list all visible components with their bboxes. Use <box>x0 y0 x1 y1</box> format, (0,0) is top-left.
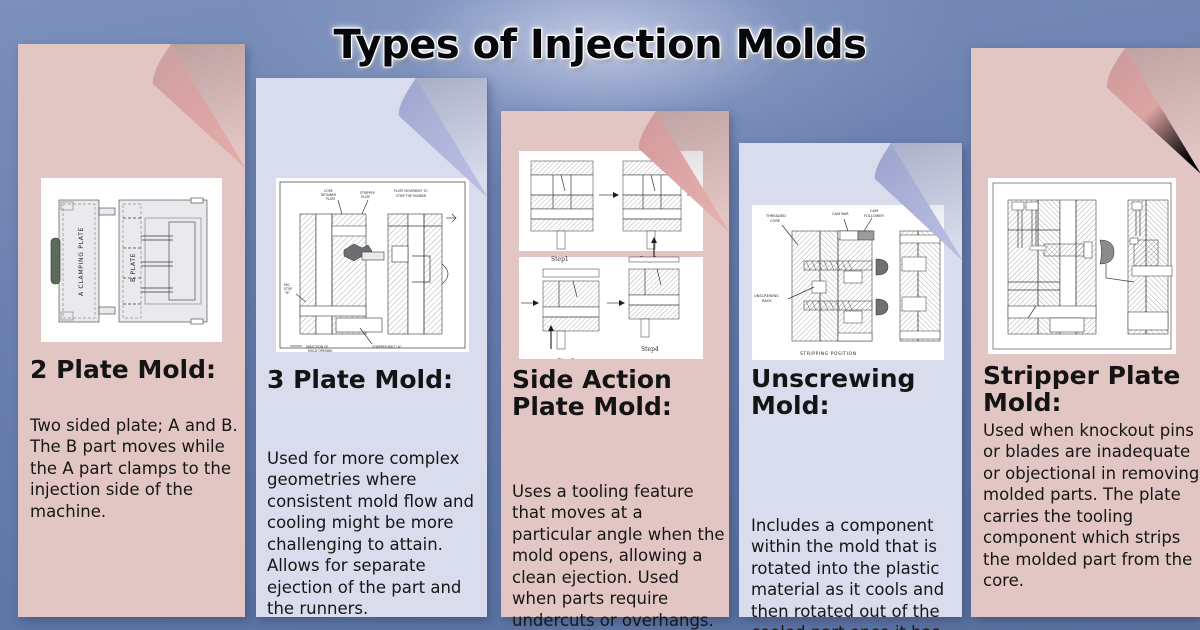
card-two-plate-mold[interactable]: A CLAMPING PLATE B PLATE 2 Plate Mold: T… <box>18 44 245 617</box>
svg-text:PLATE MOVEMENT TO: PLATE MOVEMENT TO <box>394 189 428 193</box>
svg-text:CAM: CAM <box>870 209 878 213</box>
card-heading: Side Action Plate Mold: <box>512 367 722 421</box>
card-unscrewing-mold[interactable]: THREADED CORE CAM BAR CAM FOLLOWER UNSCR… <box>739 143 962 617</box>
svg-text:CAM BAR: CAM BAR <box>832 212 849 216</box>
card-body-text: Uses a tooling feature that moves at a p… <box>512 481 726 630</box>
svg-text:B PLATE: B PLATE <box>130 253 137 282</box>
svg-text:MOLD OPENING: MOLD OPENING <box>308 349 333 352</box>
svg-text:STRIPPING POSITION: STRIPPING POSITION <box>800 351 857 357</box>
infographic-canvas: Types of Injection Molds <box>0 0 1200 630</box>
card-body-text: Used for more complex geometries where c… <box>267 448 486 620</box>
unscrewing-mold-diagram: THREADED CORE CAM BAR CAM FOLLOWER UNSCR… <box>752 205 944 360</box>
card-body-text: Used when knockout pins or blades are in… <box>983 420 1200 592</box>
svg-text:UNSCREWING: UNSCREWING <box>754 294 779 298</box>
card-three-plate-mold[interactable]: CORE RETAINER PLATE STRIPPER PLATE PLATE… <box>256 78 487 617</box>
svg-text:Step1: Step1 <box>551 256 569 263</box>
svg-text:STRIP THE RUNNER: STRIP THE RUNNER <box>396 194 427 198</box>
stripper-plate-mold-diagram <box>988 178 1176 354</box>
svg-text:PLATE: PLATE <box>361 195 370 199</box>
svg-text:A CLAMPING PLATE: A CLAMPING PLATE <box>78 227 85 296</box>
svg-text:"B": "B" <box>285 291 291 295</box>
svg-text:RACK: RACK <box>762 299 772 303</box>
card-stripper-plate-mold[interactable]: Stripper Plate Mold: Used when knockout … <box>971 48 1200 617</box>
svg-text:CORE: CORE <box>770 219 781 223</box>
svg-text:Step4: Step4 <box>641 346 659 353</box>
card-heading: 2 Plate Mold: <box>30 357 244 384</box>
svg-text:PLATE: PLATE <box>326 197 335 201</box>
card-body-text: Includes a component within the mold tha… <box>751 515 963 630</box>
card-side-action-plate-mold[interactable]: Step1 <box>501 111 729 617</box>
svg-text:THREADED: THREADED <box>765 214 786 218</box>
card-heading: Stripper Plate Mold: <box>983 363 1199 417</box>
svg-text:Step3: Step3 <box>557 358 575 359</box>
card-body-text: Two sided plate; A and B. The B part mov… <box>30 415 246 522</box>
three-plate-mold-diagram: CORE RETAINER PLATE STRIPPER PLATE PLATE… <box>276 178 469 352</box>
svg-text:STRIPPER BOLT "A": STRIPPER BOLT "A" <box>372 345 402 349</box>
side-action-plate-mold-diagram: Step1 <box>519 151 703 359</box>
svg-text:FOLLOWER: FOLLOWER <box>864 214 884 218</box>
two-plate-mold-diagram: A CLAMPING PLATE B PLATE <box>41 178 222 342</box>
card-heading: 3 Plate Mold: <box>267 367 483 394</box>
card-heading: Unscrewing Mold: <box>751 366 957 420</box>
